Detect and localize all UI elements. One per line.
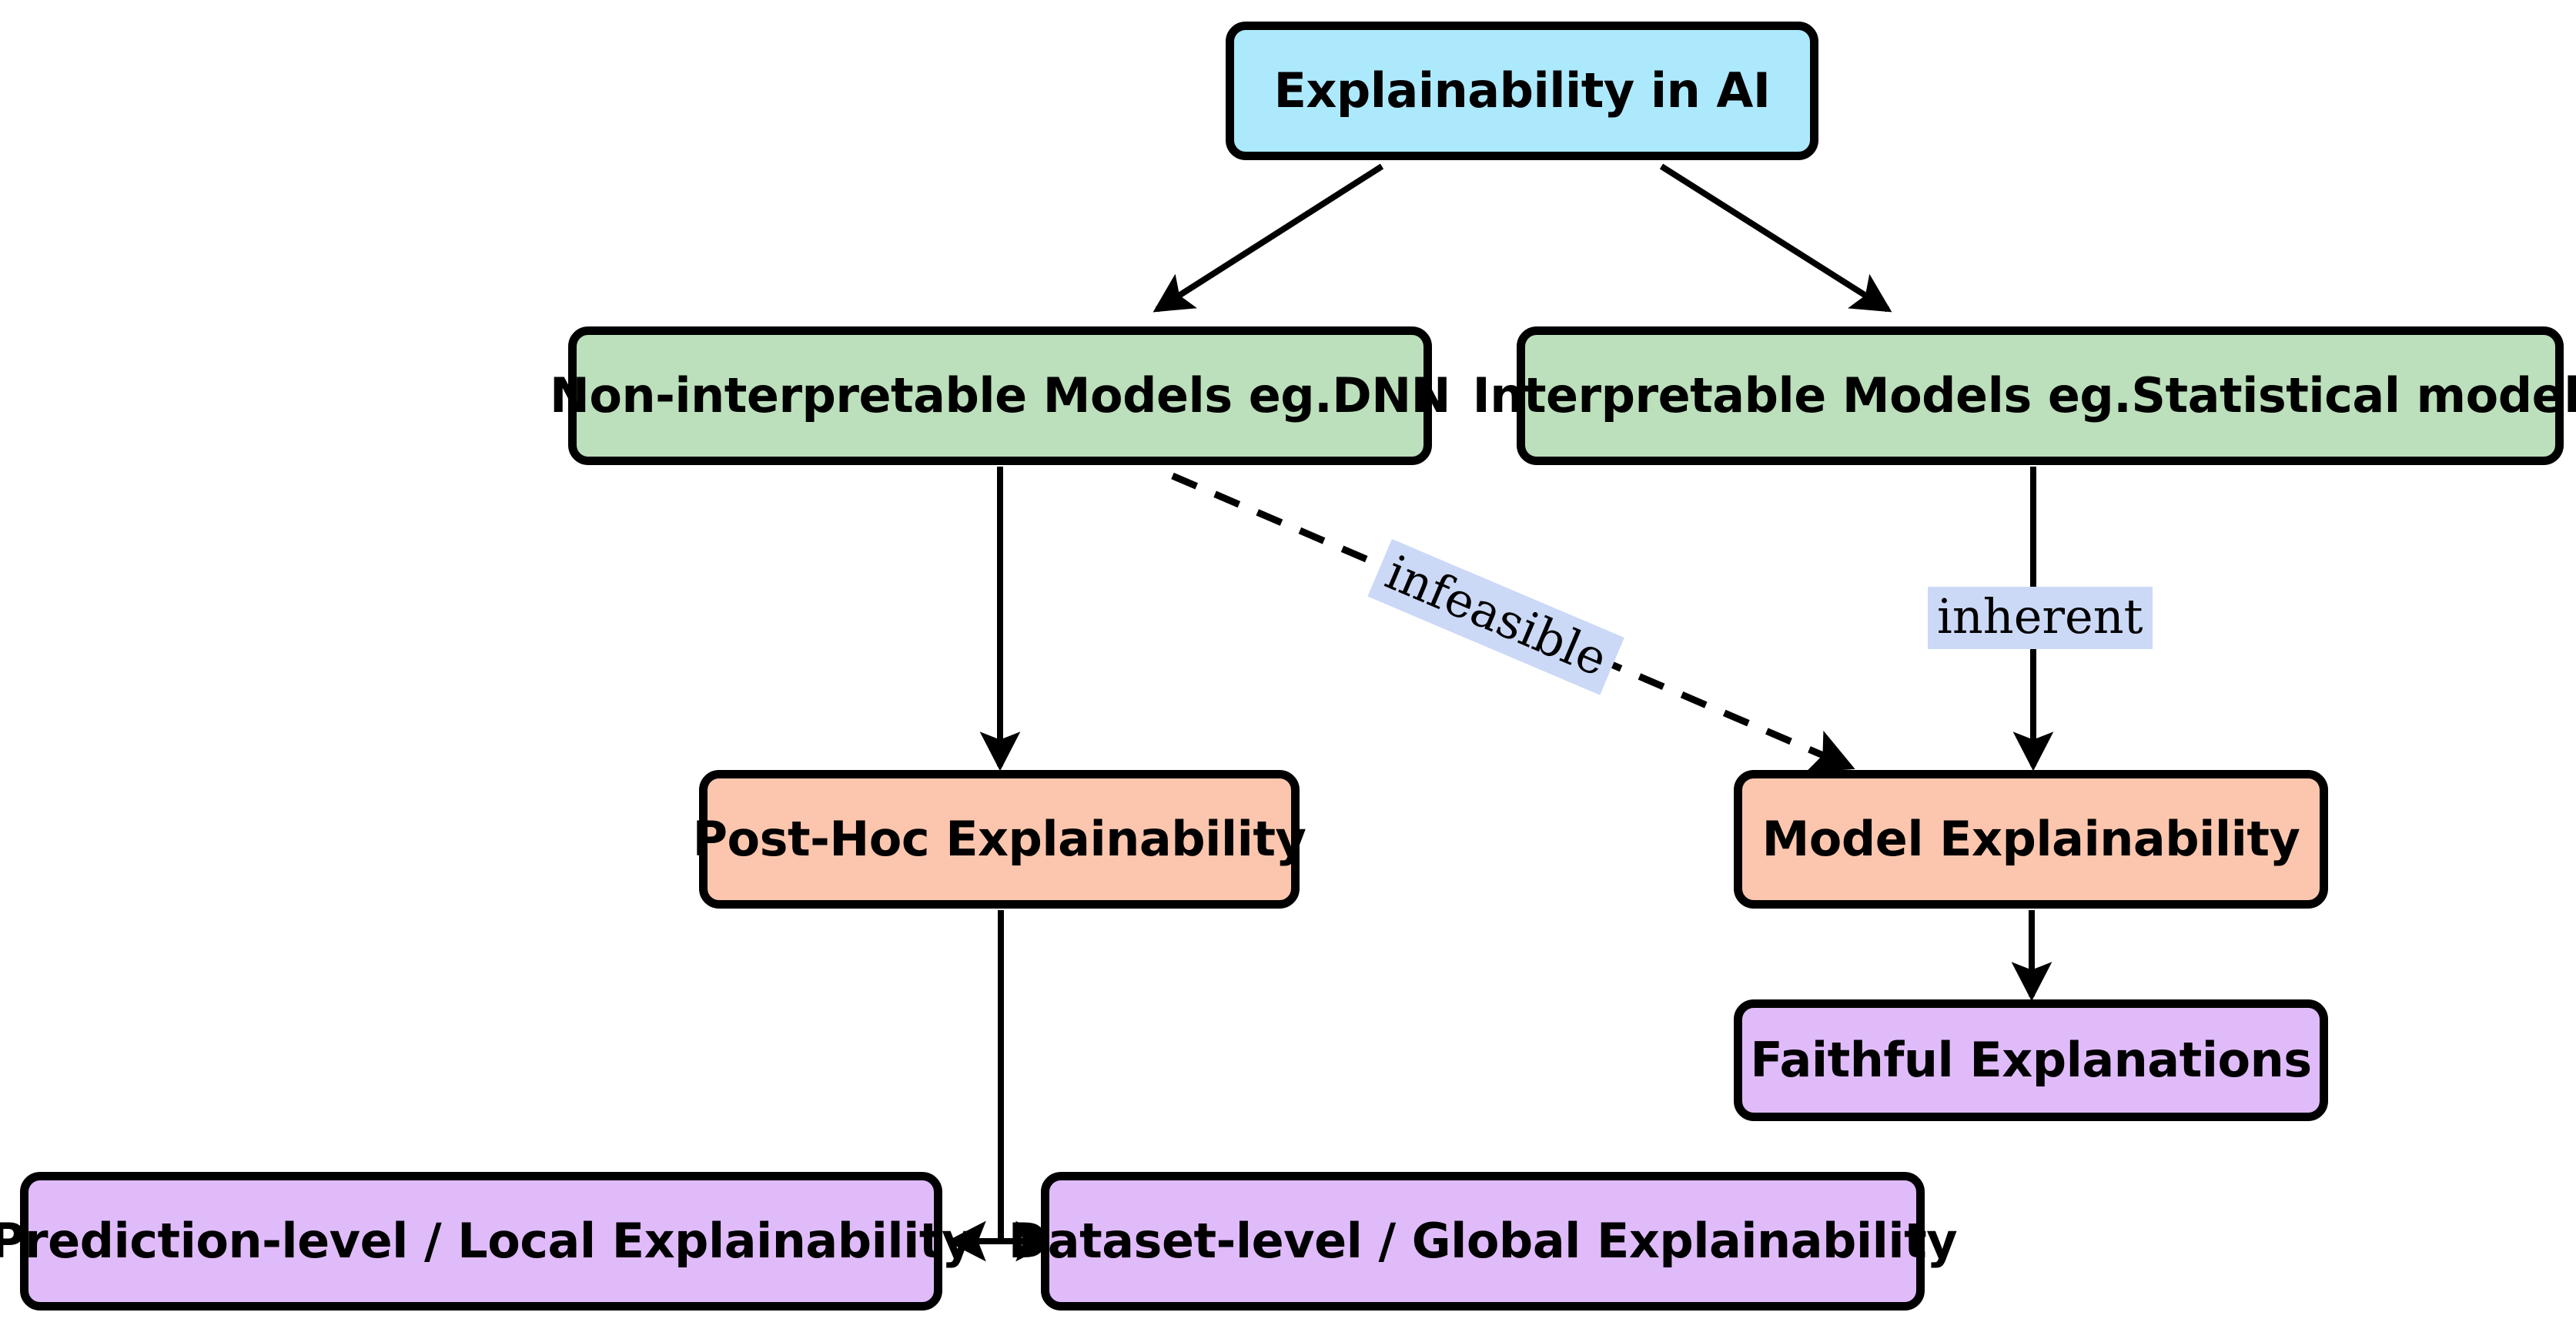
node-explainability-in-ai[interactable]: Explainability in AI [1226, 22, 1818, 160]
edge-label-inherent: inherent [1928, 587, 2153, 649]
edge-label-text: inherent [1937, 588, 2143, 644]
node-label: Faithful Explanations [1750, 1036, 2311, 1084]
edge-layer [0, 0, 2576, 1339]
node-label: Interpretable Models eg.Statistical mode… [1473, 372, 2576, 420]
node-label: Post-Hoc Explainability [693, 815, 1306, 863]
node-non-interpretable-models[interactable]: Non-interpretable Models eg.DNN [568, 326, 1432, 465]
node-post-hoc-explainability[interactable]: Post-Hoc Explainability [699, 770, 1300, 909]
node-label: Non-interpretable Models eg.DNN [550, 372, 1450, 420]
edge-label-text: infeasible [1378, 544, 1616, 688]
edge-root-to-interpretable [1661, 166, 1888, 310]
node-label: Explainability in AI [1274, 67, 1771, 115]
node-interpretable-models[interactable]: Interpretable Models eg.Statistical mode… [1517, 326, 2564, 465]
edge-root-to-non-interpretable [1157, 166, 1382, 310]
node-dataset-level-global-explainability[interactable]: Dataset-level / Global Explainability [1041, 1172, 1925, 1311]
node-label: Dataset-level / Global Explainability [1009, 1217, 1957, 1265]
node-model-explainability[interactable]: Model Explainability [1734, 770, 2328, 909]
edge-label-infeasible: infeasible [1367, 539, 1624, 695]
diagram-canvas: Explainability in AI Non-interpretable M… [0, 0, 2576, 1339]
node-label: Prediction-level / Local Explainability [0, 1217, 972, 1265]
node-faithful-explanations[interactable]: Faithful Explanations [1734, 999, 2328, 1121]
node-label: Model Explainability [1762, 815, 2300, 863]
node-prediction-level-local-explainability[interactable]: Prediction-level / Local Explainability [20, 1172, 942, 1311]
